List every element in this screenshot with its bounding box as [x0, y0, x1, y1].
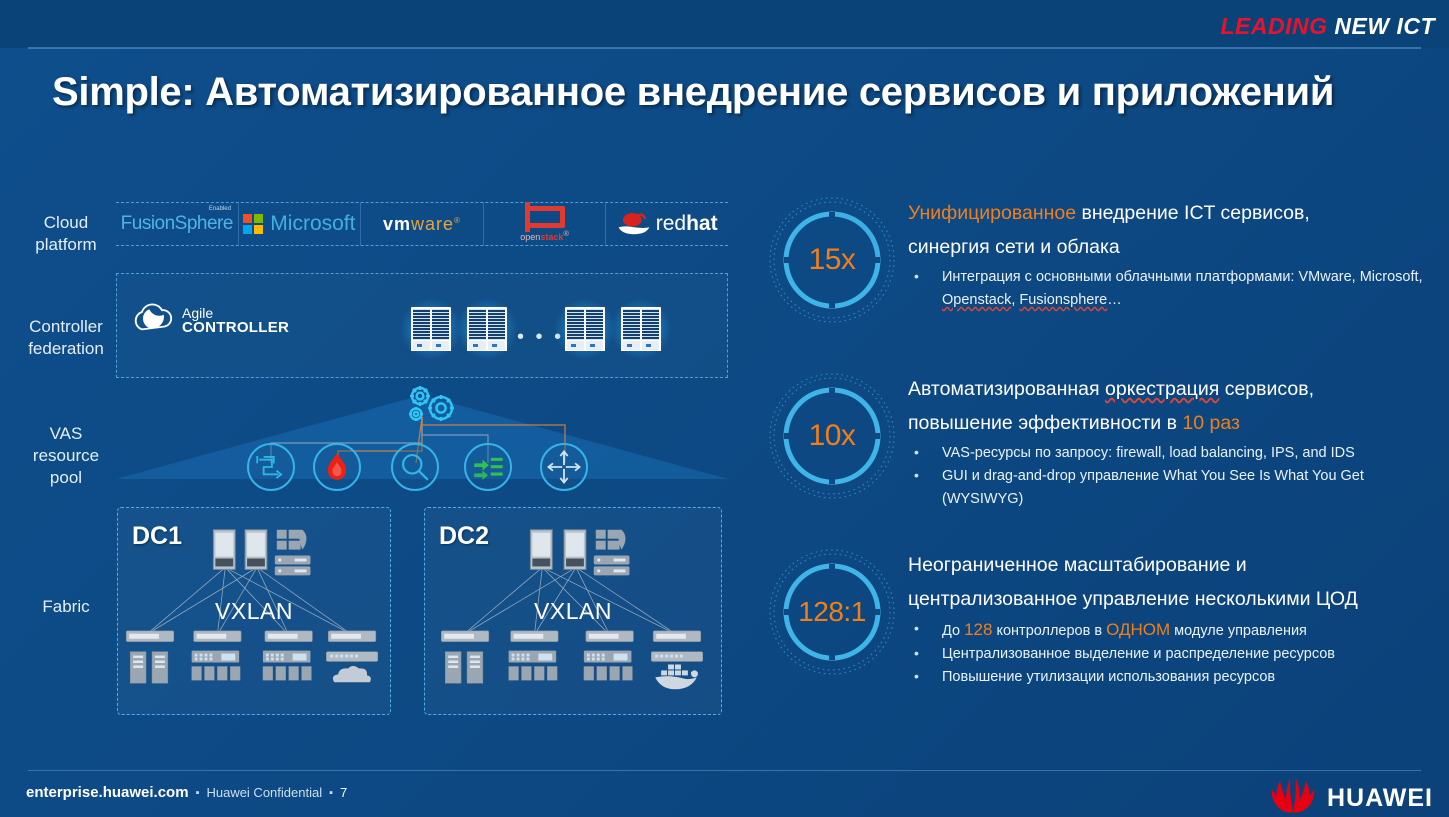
- firewall-flame-icon[interactable]: [313, 443, 361, 491]
- benefit-bullets-15x: Интеграция с основными облачными платфор…: [908, 266, 1428, 312]
- logo-cell-redhat[interactable]: redhat: [606, 203, 728, 245]
- microsoft-label: Microsoft: [270, 212, 355, 236]
- brand-tagline: LEADING NEW ICT: [1221, 13, 1436, 40]
- controller-rack: [411, 307, 451, 351]
- agile-controller-logo: Agile CONTROLLER: [131, 302, 289, 338]
- huawei-flower-icon: [1269, 777, 1317, 817]
- footer-confidential: Huawei Confidential: [206, 785, 322, 800]
- agile-line1: Agile: [182, 306, 289, 320]
- redhat-logo: redhat: [617, 211, 718, 237]
- list-item: Повышение утилизации использования ресур…: [908, 666, 1428, 689]
- benefit-text-128to1: Неограниченное масштабирование и централ…: [908, 548, 1428, 689]
- list-item: VAS-ресурсы по запросу: firewall, load b…: [908, 442, 1428, 465]
- brand-tagline-leading: LEADING: [1221, 13, 1328, 39]
- redhat-label: redhat: [656, 212, 718, 236]
- openstack-logo: openstack®: [520, 206, 569, 242]
- list-item: Централизованное выделение и распределен…: [908, 643, 1428, 666]
- footer: enterprise.huawei.com ▪ Huawei Confident…: [26, 784, 347, 801]
- row-label-controller-federation: Controllerfederation: [18, 316, 114, 360]
- dc2-vxlan-label: VXLAN: [425, 598, 721, 625]
- inspection-magnifier-icon[interactable]: [391, 443, 439, 491]
- row-label-fabric: Fabric: [18, 596, 114, 618]
- vmware-logo: vmware®: [383, 214, 461, 235]
- controller-federation-box: Agile CONTROLLER • • •: [116, 273, 728, 378]
- huawei-logo: HUAWEI: [1269, 777, 1433, 817]
- list-item: Интеграция с основными облачными платфор…: [908, 266, 1428, 312]
- benefit-heading-line2: централизованное управление несколькими …: [908, 582, 1428, 616]
- metric-value-128to1: 128:1: [768, 548, 896, 676]
- controller-rack: [565, 307, 605, 351]
- brand-tagline-newict: NEW ICT: [1328, 13, 1436, 39]
- benefit-text-15x: Унифицированное внедрение ICT сервисов, …: [908, 196, 1428, 312]
- list-item: До 128 контроллеров в ОДНОМ модуле управ…: [908, 618, 1428, 643]
- footer-separator: ▪: [329, 787, 333, 799]
- footer-divider: [28, 770, 1421, 771]
- logo-cell-openstack[interactable]: openstack®: [484, 203, 607, 245]
- cloud-icon: [131, 302, 173, 338]
- redhat-fedora-icon: [617, 211, 651, 237]
- benefit-heading-line2: повышение эффективности в 10 раз: [908, 406, 1428, 440]
- fusionsphere-logo: FusionSphere Enabled: [121, 213, 233, 235]
- openstack-mark-icon: [525, 206, 565, 228]
- row-label-vas-resource-pool: VASresourcepool: [18, 423, 114, 489]
- metric-ring-128to1: 128:1: [768, 548, 896, 676]
- microsoft-logo: Microsoft: [243, 212, 355, 236]
- benefit-bullets-10x: VAS-ресурсы по запросу: firewall, load b…: [908, 442, 1428, 511]
- benefit-heading-line1: Унифицированное внедрение ICT сервисов,: [908, 196, 1428, 230]
- metric-value-15x: 15x: [768, 196, 896, 324]
- fusionsphere-label: FusionSphere: [121, 213, 233, 234]
- traffic-arrows-icon[interactable]: [464, 443, 512, 491]
- vmware-label-rest: ware: [411, 214, 454, 234]
- footer-site[interactable]: enterprise.huawei.com: [26, 784, 189, 801]
- vmware-label-bold: vm: [383, 214, 411, 234]
- logo-cell-vmware[interactable]: vmware®: [361, 203, 484, 245]
- huawei-wordmark: HUAWEI: [1327, 784, 1433, 813]
- top-divider: [28, 47, 1421, 49]
- dc1-vxlan-label: VXLAN: [118, 598, 390, 625]
- docker-whale-icon: [655, 664, 698, 689]
- metric-value-10x: 10x: [768, 372, 896, 500]
- router-arrows-icon[interactable]: [540, 443, 588, 491]
- logo-cell-fusionsphere[interactable]: FusionSphere Enabled: [116, 203, 239, 245]
- agile-line2: CONTROLLER: [182, 320, 289, 335]
- logo-cell-microsoft[interactable]: Microsoft: [239, 203, 362, 245]
- benefit-heading-line1: Автоматизированная оркестрация сервисов,: [908, 372, 1428, 406]
- metric-ring-15x: 15x: [768, 196, 896, 324]
- vmware-sup: ®: [454, 216, 461, 225]
- benefit-text-10x: Автоматизированная оркестрация сервисов,…: [908, 372, 1428, 511]
- page-title: Simple: Автоматизированное внедрение сер…: [52, 70, 1334, 115]
- cloud-platform-logo-strip: FusionSphere Enabled Microsoft vmware® o…: [116, 202, 728, 246]
- loadbalancer-icon[interactable]: [247, 443, 295, 491]
- list-item: GUI и drag-and-drop управление What You …: [908, 465, 1428, 511]
- benefit-bullets-128to1: До 128 контроллеров в ОДНОМ модуле управ…: [908, 618, 1428, 689]
- benefit-heading-line1: Неограниченное масштабирование и: [908, 548, 1428, 582]
- footer-page-number: 7: [340, 785, 347, 800]
- datacenter-dc2: DC2: [424, 507, 722, 715]
- fusionsphere-sup: Enabled: [209, 206, 231, 212]
- metric-ring-10x: 10x: [768, 372, 896, 500]
- controller-rack: [467, 307, 507, 351]
- orchestration-gears-icon: [401, 383, 461, 429]
- benefit-heading-line2: синергия сети и облака: [908, 230, 1428, 264]
- row-label-cloud-platform: Cloudplatform: [18, 212, 114, 256]
- vas-resource-pool-zone: [116, 383, 728, 501]
- agile-controller-text: Agile CONTROLLER: [182, 306, 289, 335]
- microsoft-squares-icon: [243, 214, 263, 234]
- controller-rack: [621, 307, 661, 351]
- slide-root: LEADING NEW ICT Simple: Автоматизированн…: [0, 0, 1449, 817]
- footer-separator: ▪: [196, 787, 200, 799]
- datacenter-dc1: DC1: [117, 507, 391, 715]
